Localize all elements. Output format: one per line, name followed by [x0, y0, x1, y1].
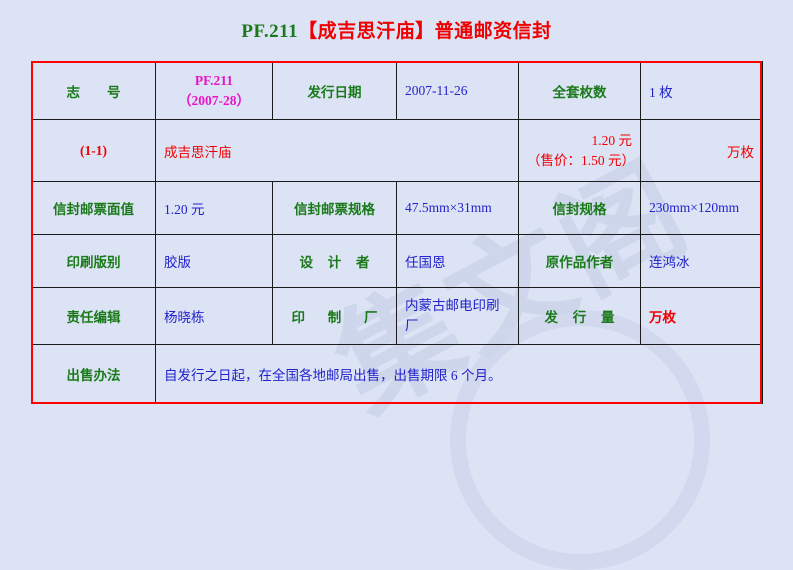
- stamp-info-table: 志 号 PF.211 （2007-28） 发行日期 2007-11-26 全套枚…: [31, 61, 763, 404]
- table-row: 印刷版别 胶版 设 计 者 任国恩 原作品作者 连鸿冰: [32, 235, 763, 288]
- cell-value-issue-date: 2007-11-26: [397, 62, 519, 120]
- cell-value-original-author: 连鸿冰: [641, 235, 763, 288]
- cell-label-stamp-face-value: 信封邮票面值: [32, 182, 156, 235]
- stamp-info-page: PF.211【成吉思汗庙】普通邮资信封 志 号 PF.211 （2007-28）…: [0, 0, 793, 468]
- cell-label-issue-qty: 发 行 量: [519, 288, 641, 345]
- cell-label-zhihao: 志 号: [32, 62, 156, 120]
- cell-label-stamp-size: 信封邮票规格: [273, 182, 397, 235]
- table-row: 信封邮票面值 1.20 元 信封邮票规格 47.5mm×31mm 信封规格 23…: [32, 182, 763, 235]
- title-main: 【成吉思汗庙】普通邮资信封: [298, 20, 552, 42]
- cell-label-editor: 责任编辑: [32, 288, 156, 345]
- table-row: 责任编辑 杨晓栋 印 制 厂 内蒙古邮电印刷厂 发 行 量 万枚: [32, 288, 763, 345]
- cell-label-issue-date: 发行日期: [273, 62, 397, 120]
- cell-value-sale-method: 自发行之日起，在全国各地邮局出售，出售期限 6 个月。: [156, 345, 763, 404]
- cell-label-sale-method: 出售办法: [32, 345, 156, 404]
- cell-value-stamp-size: 47.5mm×31mm: [397, 182, 519, 235]
- cell-value-envelope-size: 230mm×120mm: [641, 182, 763, 235]
- cell-label-envelope-size: 信封规格: [519, 182, 641, 235]
- cell-value-item-name: 成吉思汗庙: [156, 120, 519, 182]
- zhihao-serial: （2007-28）: [164, 91, 264, 111]
- table-row: (1-1) 成吉思汗庙 1.20 元 （售价：1.50 元） 万枚: [32, 120, 763, 182]
- cell-value-item-index: (1-1): [32, 120, 156, 182]
- table-row: 志 号 PF.211 （2007-28） 发行日期 2007-11-26 全套枚…: [32, 62, 763, 120]
- cell-value-stamp-face-value: 1.20 元: [156, 182, 273, 235]
- zhihao-code: PF.211: [164, 71, 264, 91]
- cell-value-designer: 任国恩: [397, 235, 519, 288]
- cell-value-printer: 内蒙古邮电印刷厂: [397, 288, 519, 345]
- face-value-line: 1.20 元: [527, 131, 632, 151]
- cell-label-printer: 印 制 厂: [273, 288, 397, 345]
- sale-price-line: （售价：1.50 元）: [527, 151, 632, 171]
- cell-value-issue-qty: 万枚: [641, 288, 763, 345]
- cell-value-print-type: 胶版: [156, 235, 273, 288]
- cell-value-set-count: 1 枚: [641, 62, 763, 120]
- cell-value-zhihao: PF.211 （2007-28）: [156, 62, 273, 120]
- table-row: 出售办法 自发行之日起，在全国各地邮局出售，出售期限 6 个月。: [32, 345, 763, 404]
- cell-value-print-qty-unit: 万枚: [641, 120, 763, 182]
- title-code: PF.211: [241, 21, 298, 42]
- cell-label-set-count: 全套枚数: [519, 62, 641, 120]
- cell-value-face-price: 1.20 元 （售价：1.50 元）: [519, 120, 641, 182]
- cell-label-designer: 设 计 者: [273, 235, 397, 288]
- cell-value-editor: 杨晓栋: [156, 288, 273, 345]
- page-title: PF.211【成吉思汗庙】普通邮资信封: [0, 16, 793, 43]
- cell-label-original-author: 原作品作者: [519, 235, 641, 288]
- cell-label-print-type: 印刷版别: [32, 235, 156, 288]
